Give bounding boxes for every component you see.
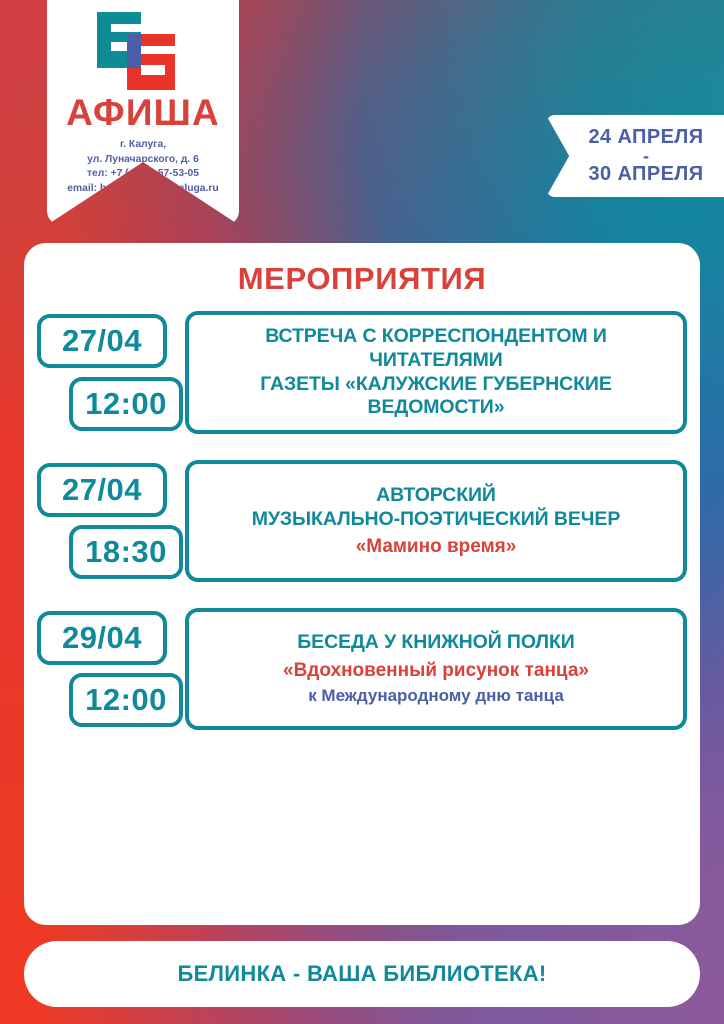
event-text-line: «Вдохновенный рисунок танца» <box>283 659 589 682</box>
event-text-line: БЕСЕДА У КНИЖНОЙ ПОЛКИ <box>297 631 574 655</box>
event-stamp-column: 29/0412:00 <box>37 608 185 730</box>
date-range-dash: - <box>621 149 649 163</box>
event-row: 29/0412:00БЕСЕДА У КНИЖНОЙ ПОЛКИ«Вдохнов… <box>37 608 687 730</box>
date-range-from: 24 АПРЕЛЯ <box>566 126 703 148</box>
afisha-title: АФИША <box>47 94 239 131</box>
event-row: 27/0412:00ВСТРЕЧА С КОРРЕСПОНДЕНТОМ И ЧИ… <box>37 311 687 434</box>
event-row: 27/0418:30АВТОРСКИЙМУЗЫКАЛЬНО-ПОЭТИЧЕСКИ… <box>37 460 687 582</box>
event-time-badge: 12:00 <box>69 377 183 431</box>
poster-canvas: АФИША г. Калуга, ул. Луначарского, д. 6 … <box>0 0 724 1024</box>
contact-phone: тел: +7 (4842) 57-53-05 <box>51 167 235 182</box>
contact-block: г. Калуга, ул. Луначарского, д. 6 тел: +… <box>47 138 239 196</box>
event-text-line: АВТОРСКИЙ <box>376 484 496 508</box>
date-range-to: 30 АПРЕЛЯ <box>566 163 703 185</box>
events-panel: МЕРОПРИЯТИЯ 27/0412:00ВСТРЕЧА С КОРРЕСПО… <box>24 243 700 925</box>
contact-city: г. Калуга, <box>51 138 235 153</box>
logo-card-content: АФИША г. Калуга, ул. Луначарского, д. 6 … <box>47 0 239 196</box>
footer-banner: БЕЛИНКА - ВАША БИБЛИОТЕКА! <box>24 941 700 1007</box>
page-title: МЕРОПРИЯТИЯ <box>24 261 700 297</box>
event-stamp-column: 27/0412:00 <box>37 311 185 434</box>
event-text-line: МУЗЫКАЛЬНО-ПОЭТИЧЕСКИЙ ВЕЧЕР <box>252 508 620 532</box>
contact-email: email: belinklg@adm.kaluga.ru <box>51 182 235 197</box>
event-text-line: ВСТРЕЧА С КОРРЕСПОНДЕНТОМ И ЧИТАТЕЛЯМИ <box>199 325 673 373</box>
event-time-badge: 18:30 <box>69 525 183 579</box>
event-description-box: БЕСЕДА У КНИЖНОЙ ПОЛКИ«Вдохновенный рису… <box>185 608 687 730</box>
event-text-line: «Мамино время» <box>356 535 517 558</box>
event-date-badge: 27/04 <box>37 463 167 517</box>
event-time-badge: 12:00 <box>69 673 183 727</box>
event-date-badge: 29/04 <box>37 611 167 665</box>
event-text-line: к Международному дню танца <box>308 686 564 707</box>
event-text-line: ГАЗЕТЫ «КАЛУЖСКИЕ ГУБЕРНСКИЕ ВЕДОМОСТИ» <box>199 373 673 421</box>
footer-slogan: БЕЛИНКА - ВАША БИБЛИОТЕКА! <box>177 961 546 987</box>
events-list: 27/0412:00ВСТРЕЧА С КОРРЕСПОНДЕНТОМ И ЧИ… <box>24 311 700 730</box>
contact-street: ул. Луначарского, д. 6 <box>51 153 235 168</box>
event-description-box: АВТОРСКИЙМУЗЫКАЛЬНО-ПОЭТИЧЕСКИЙ ВЕЧЕР«Ма… <box>185 460 687 582</box>
logo-ribbon-card: АФИША г. Калуга, ул. Луначарского, д. 6 … <box>47 0 239 225</box>
date-range-ribbon: 24 АПРЕЛЯ - 30 АПРЕЛЯ <box>546 115 724 197</box>
event-date-badge: 27/04 <box>37 314 167 368</box>
event-description-box: ВСТРЕЧА С КОРРЕСПОНДЕНТОМ И ЧИТАТЕЛЯМИГА… <box>185 311 687 434</box>
event-stamp-column: 27/0418:30 <box>37 460 185 582</box>
belinka-double-b-logo-icon <box>93 10 193 92</box>
